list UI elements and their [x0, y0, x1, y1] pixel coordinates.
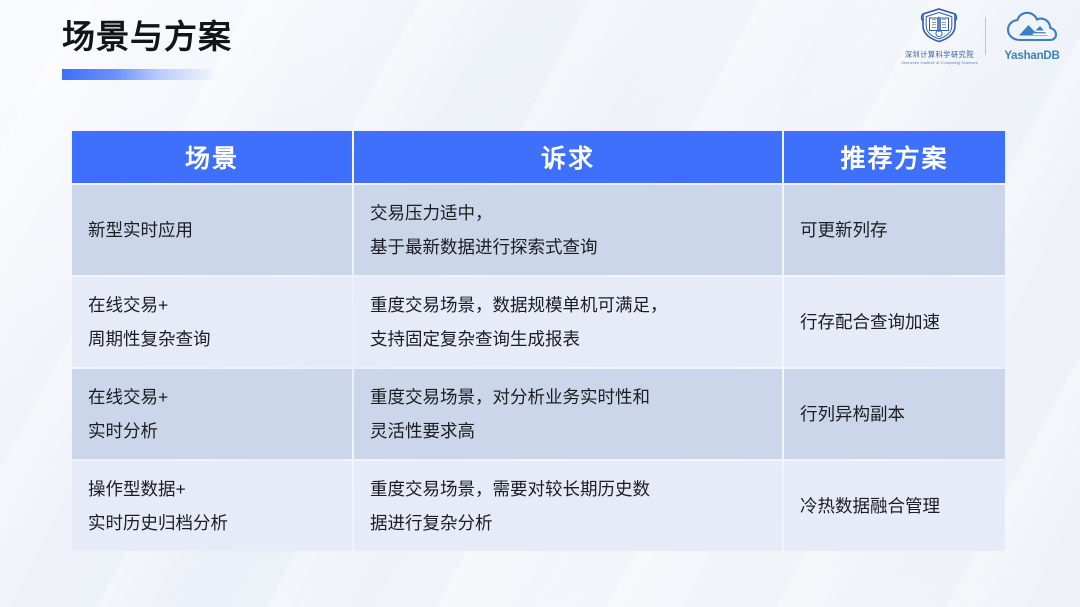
cell-line: 操作型数据+: [88, 472, 336, 506]
product-name: YashanDB: [1004, 50, 1059, 62]
cell-line: 重度交易场景，数据规模单机可满足，: [370, 288, 766, 322]
cell-line: 行存配合查询加速: [800, 305, 989, 339]
cell-line: 周期性复杂查询: [88, 322, 336, 356]
institute-logo: 深圳计算科学研究院 Shenzhen Institute of Computin…: [903, 7, 975, 65]
cell-line: 据进行复杂分析: [370, 506, 766, 540]
cell-line: 基于最新数据进行探索式查询: [370, 230, 766, 264]
table-row: 操作型数据+ 实时历史归档分析 重度交易场景，需要对较长期历史数 据进行复杂分析…: [72, 461, 1005, 551]
scenario-solution-table: 场景 诉求 推荐方案 新型实时应用 交易压力适中， 基于最新数据进行探索式查询 …: [70, 129, 1003, 575]
cell-scenario: 新型实时应用: [72, 185, 352, 275]
cell-line: 支持固定复杂查询生成报表: [370, 322, 766, 356]
table-header: 场景 诉求 推荐方案: [72, 131, 1005, 183]
cell-line: 行列异构副本: [800, 397, 989, 431]
cell-solution: 行列异构副本: [784, 369, 1005, 459]
cell-line: 新型实时应用: [88, 213, 336, 247]
institute-name-en: Shenzhen Institute of Computing Sciences: [901, 60, 977, 65]
cell-line: 在线交易+: [88, 380, 336, 414]
table-row: 在线交易+ 周期性复杂查询 重度交易场景，数据规模单机可满足， 支持固定复杂查询…: [72, 277, 1005, 367]
cell-line: 重度交易场景，对分析业务实时性和: [370, 380, 766, 414]
product-logo: YashanDB: [996, 11, 1068, 62]
table-header-row: 场景 诉求 推荐方案: [72, 131, 1005, 183]
institute-name-cn: 深圳计算科学研究院: [904, 49, 973, 59]
table: 场景 诉求 推荐方案 新型实时应用 交易压力适中， 基于最新数据进行探索式查询 …: [70, 129, 1007, 553]
cell-line: 灵活性要求高: [370, 414, 766, 448]
cell-line: 实时分析: [88, 414, 336, 448]
table-body: 新型实时应用 交易压力适中， 基于最新数据进行探索式查询 可更新列存 在线交易+…: [72, 185, 1005, 551]
logo-divider: [985, 17, 986, 55]
cell-line: 重度交易场景，需要对较长期历史数: [370, 472, 766, 506]
page-title: 场景与方案: [62, 17, 232, 57]
cell-line: 在线交易+: [88, 288, 336, 322]
cell-demand: 重度交易场景，对分析业务实时性和 灵活性要求高: [354, 369, 782, 459]
cell-scenario: 在线交易+ 实时分析: [72, 369, 352, 459]
cell-line: 可更新列存: [800, 213, 989, 247]
cell-demand: 交易压力适中， 基于最新数据进行探索式查询: [354, 185, 782, 275]
column-header-demand: 诉求: [354, 131, 782, 183]
cloud-mountain-icon: [1006, 11, 1058, 49]
column-header-scenario: 场景: [72, 131, 352, 183]
table-row: 在线交易+ 实时分析 重度交易场景，对分析业务实时性和 灵活性要求高 行列异构副…: [72, 369, 1005, 459]
cell-solution: 冷热数据融合管理: [784, 461, 1005, 551]
cell-solution: 可更新列存: [784, 185, 1005, 275]
cell-solution: 行存配合查询加速: [784, 277, 1005, 367]
cell-scenario: 操作型数据+ 实时历史归档分析: [72, 461, 352, 551]
shield-crest-icon: [919, 7, 959, 48]
cell-line: 实时历史归档分析: [88, 506, 336, 540]
cell-demand: 重度交易场景，数据规模单机可满足， 支持固定复杂查询生成报表: [354, 277, 782, 367]
column-header-solution: 推荐方案: [784, 131, 1005, 183]
logo-area: 深圳计算科学研究院 Shenzhen Institute of Computin…: [903, 8, 1068, 64]
slide-canvas: 场景与方案 深圳计算科学研究院 Shenzhen Institut: [0, 0, 1080, 607]
table-row: 新型实时应用 交易压力适中， 基于最新数据进行探索式查询 可更新列存: [72, 185, 1005, 275]
cell-demand: 重度交易场景，需要对较长期历史数 据进行复杂分析: [354, 461, 782, 551]
title-underline-accent: [62, 69, 217, 80]
cell-scenario: 在线交易+ 周期性复杂查询: [72, 277, 352, 367]
cell-line: 冷热数据融合管理: [800, 489, 989, 523]
cell-line: 交易压力适中，: [370, 196, 766, 230]
